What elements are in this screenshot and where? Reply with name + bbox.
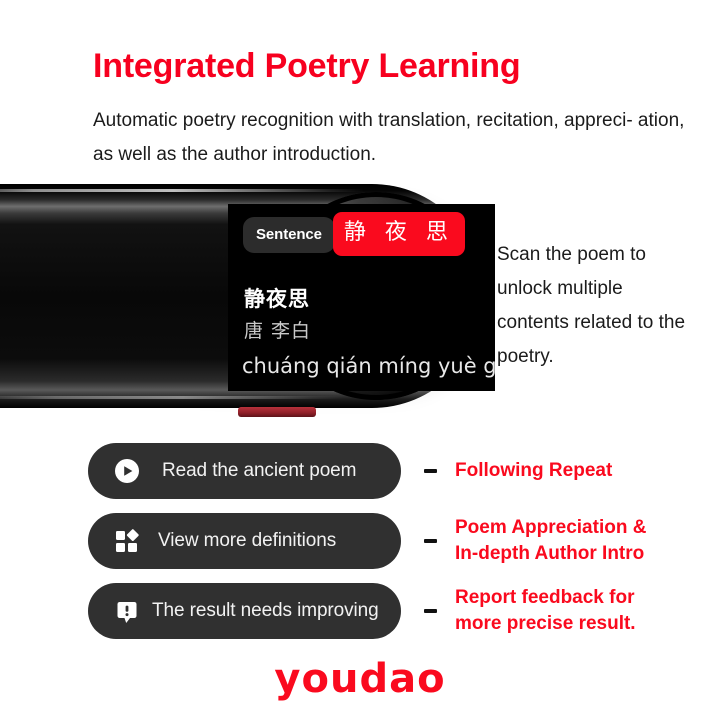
feature-row: The result needs improving Report feedba… xyxy=(88,583,698,639)
feature-row: View more definitions Poem Appreciation … xyxy=(88,513,698,569)
page-title: Integrated Poetry Learning xyxy=(93,47,520,86)
feedback-bubble-icon xyxy=(114,598,140,624)
row-separator-dash xyxy=(424,469,437,473)
device-red-button[interactable] xyxy=(238,407,316,417)
read-ancient-poem-button[interactable]: Read the ancient poem xyxy=(88,443,401,499)
view-more-definitions-label: View more definitions xyxy=(158,530,336,552)
poem-author-text: 唐 李白 xyxy=(244,316,311,343)
row-note-poem-appreciation: Poem Appreciation & In-depth Author Intr… xyxy=(455,515,646,567)
device-bottom-highlight xyxy=(0,396,344,399)
row-note-following-repeat: Following Repeat xyxy=(455,458,612,484)
screen-tab-bar: Sentence 静 夜 思 xyxy=(243,217,465,256)
view-more-definitions-button[interactable]: View more definitions xyxy=(88,513,401,569)
feature-row: Read the ancient poem Following Repeat xyxy=(88,443,698,499)
youdao-logo: youdao xyxy=(0,656,720,702)
read-ancient-poem-label: Read the ancient poem xyxy=(162,460,356,482)
scan-caption: Scan the poem to unlock multiple content… xyxy=(497,238,697,374)
row-note-report-feedback: Report feedback for more precise result. xyxy=(455,585,636,637)
result-needs-improving-label: The result needs improving xyxy=(152,600,379,622)
play-circle-icon xyxy=(114,458,140,484)
result-needs-improving-button[interactable]: The result needs improving xyxy=(88,583,401,639)
row-separator-dash xyxy=(424,539,437,543)
poem-pinyin-text: chuáng qián míng yuè guāng xyxy=(242,354,495,378)
grid-diamond-icon xyxy=(114,528,140,554)
device-screen: Sentence 静 夜 思 静夜思 唐 李白 chuáng qián míng… xyxy=(228,204,495,391)
poem-title-text: 静夜思 xyxy=(244,283,310,313)
page-subtitle: Automatic poetry recognition with transl… xyxy=(93,104,693,172)
row-separator-dash xyxy=(424,609,437,613)
tab-sentence[interactable]: Sentence xyxy=(243,217,335,253)
tab-poem-title[interactable]: 静 夜 思 xyxy=(333,212,465,256)
feature-list: Read the ancient poem Following Repeat V… xyxy=(88,443,698,653)
device-top-highlight xyxy=(0,189,364,192)
